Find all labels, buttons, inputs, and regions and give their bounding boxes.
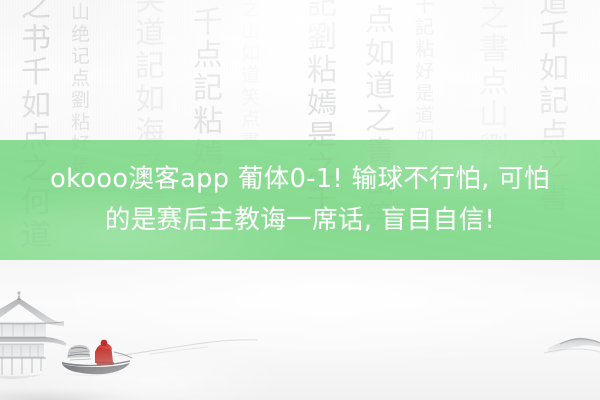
boatman-red-robe-icon: [95, 340, 114, 365]
poster-image: 之书千如点之何道山绝记点劉粘好是笑道記如海之書千点記粘嫣若是之山如道笑点書記劉粘…: [0, 0, 600, 400]
boat-cargo: [67, 345, 91, 360]
calligraphy-column: 千点記粘嫣若是: [166, 5, 222, 140]
distant-shore-icon: [544, 338, 600, 354]
pavilion-icon: [0, 291, 66, 379]
calligraphy-column: 千記粘好是道如: [396, 0, 434, 140]
fishing-boat-icon: [62, 340, 132, 376]
calligraphy-column: 之書点山劉嫣笑: [452, 0, 508, 140]
calligraphy-column: 点如道之書山笑: [338, 3, 394, 140]
calligraphy-column: 笑道記如海之書: [108, 0, 164, 140]
calligraphy-panel: 之书千如点之何道山绝记点劉粘好是笑道記如海之書千点記粘嫣若是之山如道笑点書記劉粘…: [0, 0, 600, 140]
headline-line-1: okooo澳客app 葡体0-1! 输球不行怕, 可怕: [50, 159, 550, 200]
boat-wake-icon: [118, 340, 258, 356]
near-shore-shadow: [0, 378, 180, 400]
calligraphy-column: 之山如道笑点書: [222, 0, 260, 140]
ink-wash-landscape: [0, 260, 600, 400]
green-headline-band: 之书千如点之何道山绝记点劉粘好是笑道記如海之書千点記粘嫣若是之山如道笑点書記劉粘…: [0, 140, 600, 260]
calligraphy-column: 之书千如点之何道: [0, 0, 50, 140]
calligraphy-column: 山绝记点劉粘好是: [52, 2, 90, 140]
calligraphy-column: 道千如記点之書: [512, 0, 568, 140]
headline-line-2: 的是赛后主教诲一席话, 盲目自信!: [105, 200, 495, 241]
calligraphy-column: 記劉粘嫣是之千: [280, 0, 336, 140]
headline-text-block: okooo澳客app 葡体0-1! 输球不行怕, 可怕 的是赛后主教诲一席话, …: [0, 140, 600, 260]
